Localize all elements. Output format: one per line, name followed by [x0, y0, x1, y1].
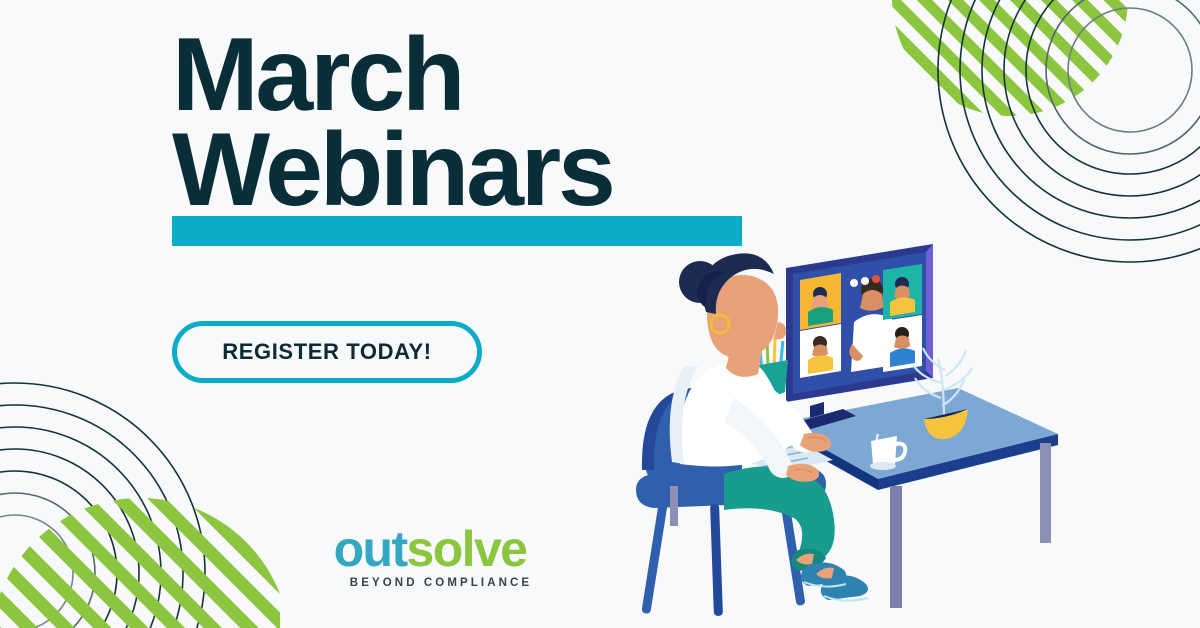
headline-line-webinars: Webinars: [172, 121, 792, 220]
participant-tile-bottom-left: [800, 324, 841, 378]
participant-tile-top-right: [883, 264, 922, 320]
outsolve-logo: outsolve BEYOND COMPLIANCE: [314, 524, 546, 589]
concentric-rings-icon: [938, 0, 1200, 262]
desk-leg-front: [890, 486, 902, 608]
mute-icon: [850, 279, 858, 287]
participant-tile-bottom-right: [883, 315, 922, 372]
promo-banner: March Webinars REGISTER TODAY! outsolve …: [0, 0, 1200, 628]
striped-circle-icon: [0, 348, 280, 628]
logo-wordmark: outsolve: [314, 524, 546, 574]
desk-leg-back: [1040, 443, 1051, 543]
logo-text-out: out: [334, 521, 407, 577]
concentric-rings-icon: [0, 383, 205, 628]
chair-leg-2: [710, 504, 723, 616]
chair-leg-rear: [670, 486, 678, 526]
video-conference-illustration: [628, 238, 1058, 628]
video-icon: [861, 277, 869, 285]
register-today-label: REGISTER TODAY!: [222, 339, 431, 365]
chair-leg-1: [641, 502, 667, 614]
end-call-icon: [872, 275, 880, 283]
decoration-bottom-left: [0, 348, 280, 628]
logo-text-solve: solve: [407, 521, 527, 577]
participant-tile-top-left: [800, 273, 841, 330]
logo-tagline: BEYOND COMPLIANCE: [314, 577, 546, 589]
page-title: March Webinars: [172, 26, 792, 220]
register-today-button[interactable]: REGISTER TODAY!: [172, 321, 482, 383]
headline-line-month: March: [172, 26, 792, 125]
